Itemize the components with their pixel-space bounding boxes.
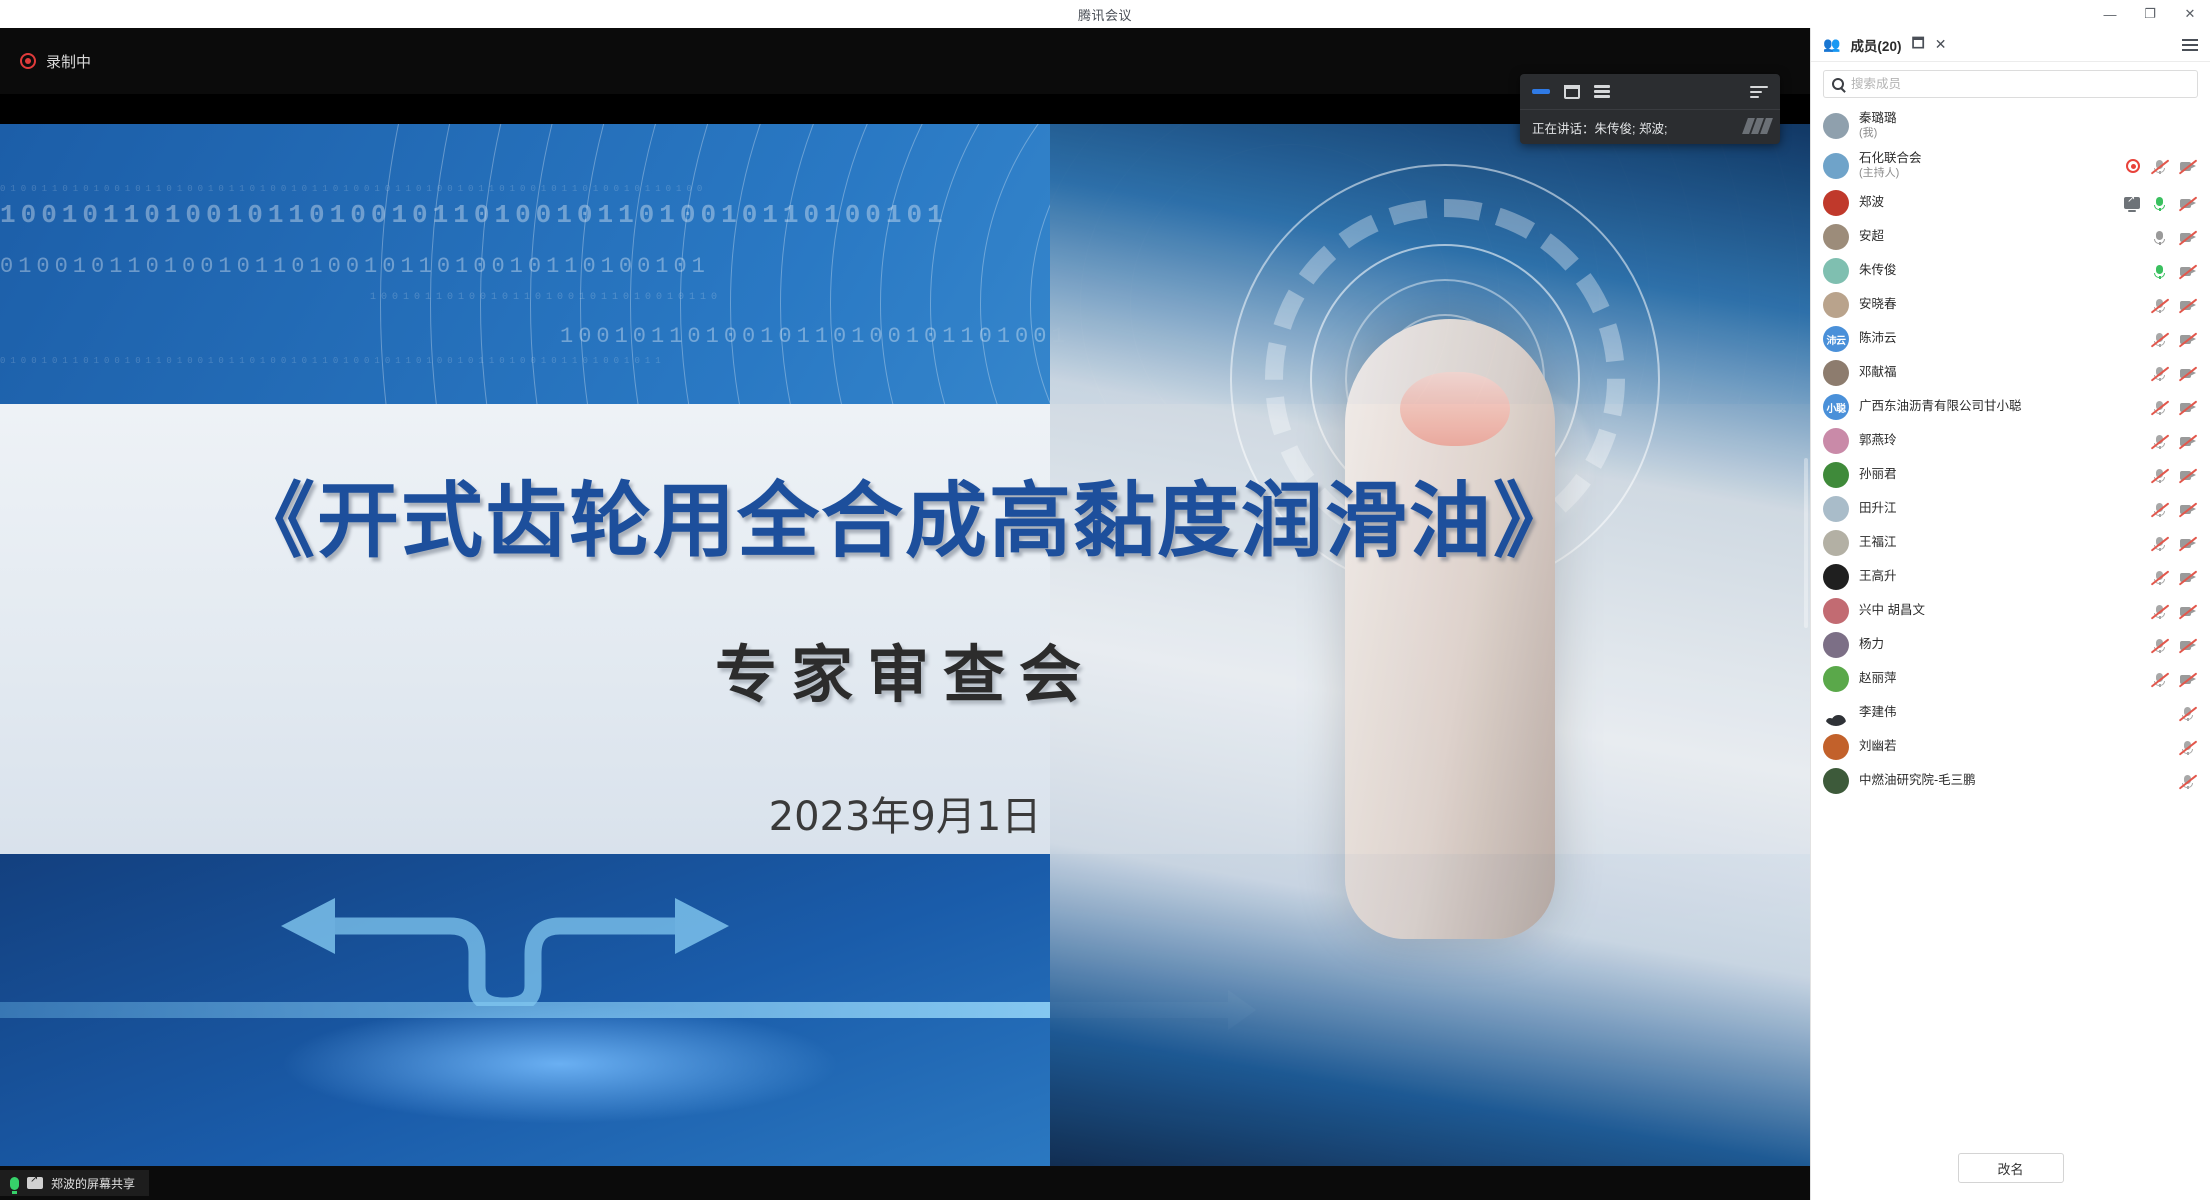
avatar: 沛云 [1823, 326, 1849, 352]
participant-name: 李建伟 [1859, 705, 1897, 721]
participant-name-block: 石化联合会(主持人) [1859, 151, 1922, 180]
participant-role: (我) [1859, 127, 1897, 141]
participant-name-block: 孙丽君 [1859, 467, 1897, 483]
participant-row[interactable]: 孙丽君 [1811, 458, 2210, 492]
glow-ellipse [280, 1004, 840, 1124]
avatar [1823, 292, 1849, 318]
participant-name-block: 杨力 [1859, 637, 1884, 653]
avatar [1823, 564, 1849, 590]
participant-name-block: 陈沛云 [1859, 331, 1897, 347]
camera-icon[interactable] [2179, 536, 2196, 551]
slide-subtitle: 专家审查会 [0, 624, 1810, 714]
avatar [1823, 496, 1849, 522]
avatar [1823, 666, 1849, 692]
participant-row[interactable]: 兴中 胡昌文 [1811, 594, 2210, 628]
microphone-icon[interactable] [2151, 159, 2168, 174]
microphone-icon[interactable] [2151, 366, 2168, 381]
shared-slide: 0100110101001011010010110100101101001011… [0, 124, 1810, 1174]
participant-status-icons [2151, 434, 2196, 449]
participant-list[interactable]: 秦璐璐(我)石化联合会(主持人)郑波安超朱传俊安晓春沛云陈沛云邓献福小聪广西东油… [1811, 104, 2210, 1136]
microphone-icon[interactable] [2151, 536, 2168, 551]
participant-name: 中燃油研究院-毛三鹏 [1859, 773, 1976, 789]
participant-name: 郭燕玲 [1859, 433, 1897, 449]
participant-name: 刘幽若 [1859, 739, 1897, 755]
participant-name: 赵丽萍 [1859, 671, 1897, 687]
share-status-chip: 郑波的屏幕共享 [0, 1170, 149, 1196]
list-view-icon[interactable] [1594, 85, 1610, 98]
microphone-icon[interactable] [2151, 196, 2168, 211]
participant-row[interactable]: 郭燕玲 [1811, 424, 2210, 458]
participant-row[interactable]: 沛云陈沛云 [1811, 322, 2210, 356]
camera-icon[interactable] [2179, 298, 2196, 313]
camera-icon[interactable] [2179, 434, 2196, 449]
participants-panel: 👥 成员(20) 🗖 ✕ 秦璐璐(我)石化联合会(主持人)郑波安超朱传俊安晓春沛… [1810, 28, 2210, 1200]
participant-row[interactable]: 秦璐璐(我) [1811, 106, 2210, 146]
camera-icon[interactable] [2179, 264, 2196, 279]
microphone-icon[interactable] [2151, 298, 2168, 313]
popout-icon[interactable]: 🗖 [1911, 33, 1924, 57]
participant-name: 孙丽君 [1859, 467, 1897, 483]
maximize-icon[interactable]: ❐ [2130, 0, 2170, 28]
participant-name: 王高升 [1859, 569, 1897, 585]
participant-name-block: 秦璐璐(我) [1859, 111, 1897, 140]
microphone-icon[interactable] [2151, 332, 2168, 347]
recording-indicator-icon [2126, 159, 2140, 173]
participant-name: 陈沛云 [1859, 331, 1897, 347]
microphone-icon[interactable] [2151, 502, 2168, 517]
participant-name: 石化联合会 [1859, 151, 1922, 167]
participant-status-icons [2179, 774, 2196, 789]
recording-dot-icon [20, 53, 36, 69]
avatar [1823, 734, 1849, 760]
window-titlebar: 腾讯会议 — ❐ ✕ [0, 0, 2210, 28]
participant-row[interactable]: 杨力 [1811, 628, 2210, 662]
participant-name-block: 郑波 [1859, 195, 1884, 211]
collapse-panel-icon[interactable] [1750, 83, 1768, 101]
camera-icon[interactable] [2179, 366, 2196, 381]
members-icon: 👥 [1823, 36, 1840, 53]
participant-name-block: 安晓春 [1859, 297, 1897, 313]
participant-status-icons [2151, 400, 2196, 415]
camera-icon[interactable] [2179, 230, 2196, 245]
participant-status-icons [2151, 638, 2196, 653]
microphone-icon [10, 1177, 19, 1190]
participant-name: 安超 [1859, 229, 1884, 245]
popup-view-controls [1520, 74, 1780, 110]
participant-name-block: 田升江 [1859, 501, 1897, 517]
avatar [1823, 428, 1849, 454]
window-view-icon[interactable] [1564, 85, 1580, 99]
microphone-icon[interactable] [2151, 230, 2168, 245]
avatar [1823, 113, 1849, 139]
participant-status-icons [2151, 468, 2196, 483]
recording-label: 录制中 [46, 51, 91, 72]
participant-name: 邓献福 [1859, 365, 1897, 381]
avatar [1823, 224, 1849, 250]
stage-scrollbar[interactable] [1804, 458, 1808, 628]
camera-icon[interactable] [2179, 196, 2196, 211]
participant-row[interactable]: 朱传俊 [1811, 254, 2210, 288]
window-controls: — ❐ ✕ [2090, 0, 2210, 28]
participant-name: 朱传俊 [1859, 263, 1897, 279]
participant-name-block: 刘幽若 [1859, 739, 1897, 755]
slide-date: 2023年9月1日 [0, 784, 1810, 842]
participant-row[interactable]: 安超 [1811, 220, 2210, 254]
participant-name-block: 安超 [1859, 229, 1884, 245]
camera-icon[interactable] [2179, 570, 2196, 585]
participant-name: 田升江 [1859, 501, 1897, 517]
camera-icon[interactable] [2179, 468, 2196, 483]
participant-row[interactable]: 邓献福 [1811, 356, 2210, 390]
microphone-icon[interactable] [2179, 706, 2196, 721]
camera-icon[interactable] [2179, 638, 2196, 653]
participant-name-block: 赵丽萍 [1859, 671, 1897, 687]
participant-name-block: 广西东油沥青有限公司甘小聪 [1859, 399, 2022, 415]
video-stage[interactable]: 录制中 010011010100101101001011010010110100… [0, 28, 1810, 1200]
microphone-icon[interactable] [2151, 672, 2168, 687]
search-input[interactable] [1851, 77, 2189, 91]
camera-icon[interactable] [2179, 332, 2196, 347]
search-icon [1832, 78, 1844, 90]
participant-row[interactable]: 李建伟 [1811, 696, 2210, 730]
participant-status-icons [2126, 159, 2196, 174]
avatar [1823, 530, 1849, 556]
participant-status-icons [2151, 536, 2196, 551]
participant-name-block: 李建伟 [1859, 705, 1897, 721]
participant-name: 广西东油沥青有限公司甘小聪 [1859, 399, 2022, 415]
participant-name: 郑波 [1859, 195, 1884, 211]
participant-name-block: 王福江 [1859, 535, 1897, 551]
participant-status-icons [2179, 740, 2196, 755]
participant-row[interactable]: 中燃油研究院-毛三鹏 [1811, 764, 2210, 798]
participant-status-icons [2151, 366, 2196, 381]
participant-role: (主持人) [1859, 167, 1922, 181]
participant-name: 安晓春 [1859, 297, 1897, 313]
microphone-icon[interactable] [2151, 468, 2168, 483]
app-title: 腾讯会议 [1078, 5, 1132, 24]
speaking-label: 正在讲话：朱传俊; 郑波; [1532, 118, 1667, 137]
participant-status-icons [2151, 604, 2196, 619]
microphone-icon[interactable] [2151, 400, 2168, 415]
avatar [1823, 153, 1849, 179]
participant-status-icons [2124, 196, 2196, 211]
avatar [1823, 632, 1849, 658]
microphone-icon[interactable] [2151, 604, 2168, 619]
microphone-icon[interactable] [2151, 264, 2168, 279]
speaking-status: 正在讲话：朱传俊; 郑波; [1520, 110, 1780, 144]
participant-status-icons [2151, 502, 2196, 517]
participant-name-block: 王高升 [1859, 569, 1897, 585]
participant-row[interactable]: 小聪广西东油沥青有限公司甘小聪 [1811, 390, 2210, 424]
panel-title: 成员(20) [1850, 35, 1901, 55]
rename-button[interactable]: 改名 [1958, 1153, 2064, 1183]
participant-status-icons [2151, 672, 2196, 687]
avatar [1823, 768, 1849, 794]
app-shell: 录制中 010011010100101101001011010010110100… [0, 28, 2210, 1200]
participant-name-block: 朱传俊 [1859, 263, 1897, 279]
participant-row[interactable]: 石化联合会(主持人) [1811, 146, 2210, 186]
share-status-bar: 郑波的屏幕共享 [0, 1166, 1810, 1200]
minimize-view-icon[interactable] [1532, 89, 1550, 94]
microphone-icon[interactable] [2151, 434, 2168, 449]
participant-name-block: 邓献福 [1859, 365, 1897, 381]
camera-icon[interactable] [2179, 604, 2196, 619]
participant-row[interactable]: 王高升 [1811, 560, 2210, 594]
audio-wave-icon [1745, 118, 1770, 134]
participant-status-icons [2179, 706, 2196, 721]
participant-row[interactable]: 田升江 [1811, 492, 2210, 526]
camera-icon[interactable] [2179, 502, 2196, 517]
participant-name-block: 兴中 胡昌文 [1859, 603, 1925, 619]
camera-icon[interactable] [2179, 672, 2196, 687]
participant-status-icons [2151, 298, 2196, 313]
fingernail-shape [1400, 372, 1510, 446]
participant-status-icons [2151, 264, 2196, 279]
panel-header: 👥 成员(20) 🗖 ✕ [1811, 28, 2210, 62]
slide-title: 《开式齿轮用全合成高黏度润滑油》 [0, 454, 1810, 573]
avatar: 小聪 [1823, 394, 1849, 420]
participant-name-block: 郭燕玲 [1859, 433, 1897, 449]
participant-name-block: 中燃油研究院-毛三鹏 [1859, 773, 1976, 789]
participant-name: 兴中 胡昌文 [1859, 603, 1925, 619]
floating-control-popup[interactable]: 正在讲话：朱传俊; 郑波; [1520, 74, 1780, 144]
participant-status-icons [2151, 332, 2196, 347]
screen-share-indicator-icon [2124, 197, 2140, 209]
avatar [1823, 360, 1849, 386]
screen-share-icon [27, 1177, 43, 1189]
participant-row[interactable]: 安晓春 [1811, 288, 2210, 322]
participant-name: 杨力 [1859, 637, 1884, 653]
participant-row[interactable]: 刘幽若 [1811, 730, 2210, 764]
minimize-icon[interactable]: — [2090, 0, 2130, 28]
search-area [1811, 62, 2210, 104]
search-box[interactable] [1823, 70, 2198, 98]
panel-close-icon[interactable]: ✕ [1935, 36, 1947, 53]
camera-icon[interactable] [2179, 400, 2196, 415]
participant-row[interactable]: 赵丽萍 [1811, 662, 2210, 696]
avatar [1823, 598, 1849, 624]
participant-status-icons [2151, 570, 2196, 585]
avatar [1823, 462, 1849, 488]
microphone-icon[interactable] [2151, 570, 2168, 585]
camera-icon[interactable] [2179, 159, 2196, 174]
microphone-icon[interactable] [2151, 638, 2168, 653]
participant-name: 王福江 [1859, 535, 1897, 551]
avatar [1823, 190, 1849, 216]
share-label: 郑波的屏幕共享 [51, 1175, 135, 1192]
avatar [1823, 258, 1849, 284]
participant-row[interactable]: 郑波 [1811, 186, 2210, 220]
close-icon[interactable]: ✕ [2170, 0, 2210, 28]
participant-name: 秦璐璐 [1859, 111, 1897, 127]
avatar [1823, 700, 1849, 726]
panel-footer: 改名 [1811, 1136, 2210, 1200]
participant-status-icons [2151, 230, 2196, 245]
participant-row[interactable]: 王福江 [1811, 526, 2210, 560]
microphone-icon[interactable] [2179, 774, 2196, 789]
hamburger-icon[interactable] [2182, 39, 2198, 51]
microphone-icon[interactable] [2179, 740, 2196, 755]
u-turn-arrows-icon [215, 886, 795, 1006]
